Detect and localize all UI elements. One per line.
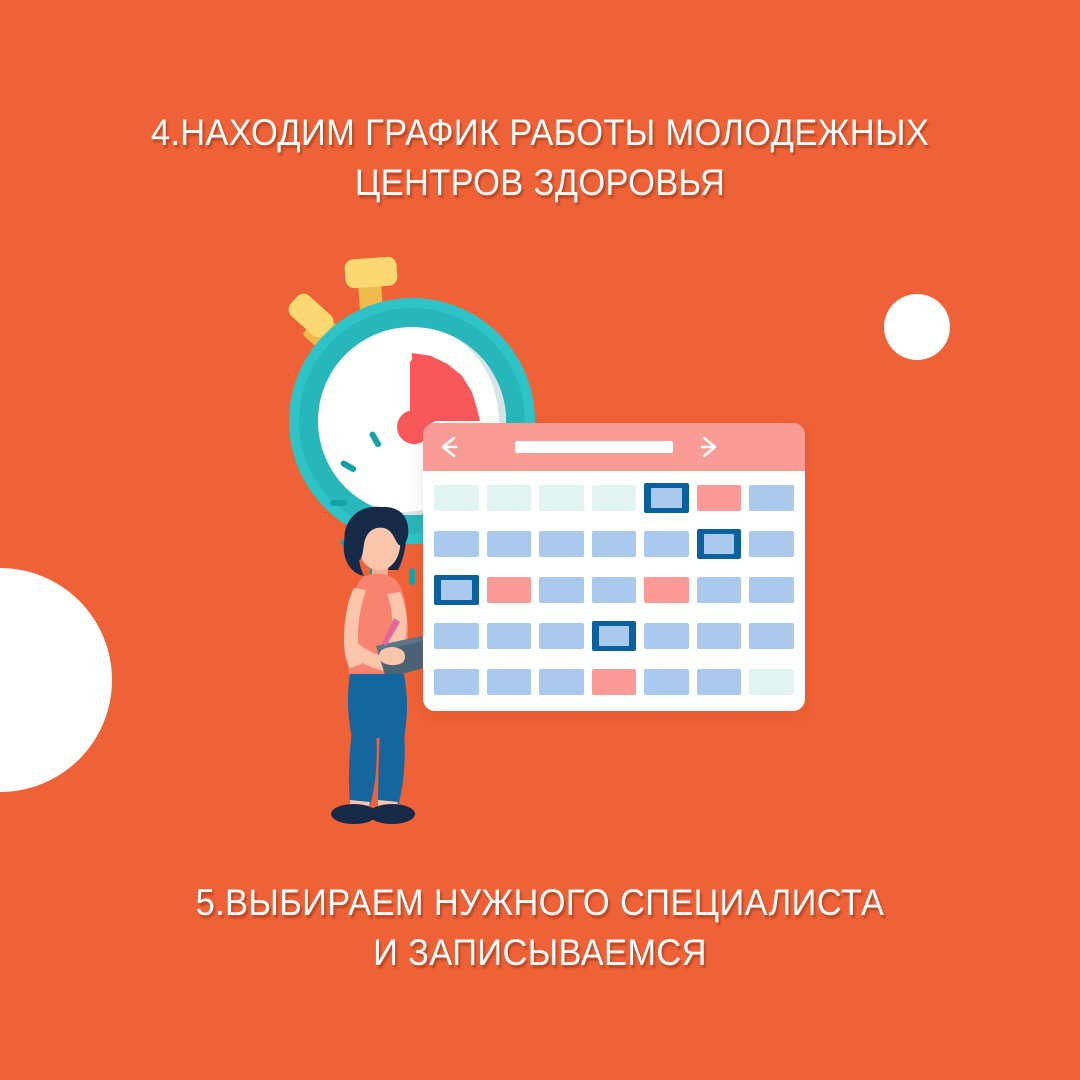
calendar-day-blue[interactable] — [487, 623, 532, 649]
calendar-day-selected-fill — [599, 626, 630, 646]
calendar-day-red[interactable] — [592, 669, 637, 695]
calendar-day-pale[interactable] — [749, 669, 794, 695]
calendar-day-blue[interactable] — [644, 669, 689, 695]
calendar-day-blue[interactable] — [749, 577, 794, 603]
calendar-day-grid — [423, 471, 805, 711]
stopwatch-crown-cap — [344, 256, 398, 289]
calendar-day-red[interactable] — [487, 577, 532, 603]
calendar-day-selected[interactable] — [644, 483, 689, 513]
hand-right — [379, 647, 405, 665]
calendar-day-blue[interactable] — [749, 531, 794, 557]
calendar-day-selected-fill — [651, 488, 682, 508]
calendar-day-blue[interactable] — [539, 531, 584, 557]
calendar-day-blue[interactable] — [539, 669, 584, 695]
calendar-day-selected-fill — [441, 580, 472, 600]
headline-bottom: 5.ВЫБИРАЕМ НУЖНОГО СПЕЦИАЛИСТА И ЗАПИСЫВ… — [38, 878, 1042, 978]
calendar-day-selected[interactable] — [434, 575, 479, 605]
arrow-left-icon[interactable] — [437, 434, 463, 460]
calendar-day-selected[interactable] — [697, 529, 742, 559]
calendar-day-blue[interactable] — [592, 531, 637, 557]
calendar-day-blue[interactable] — [539, 623, 584, 649]
calendar-day-blue[interactable] — [592, 577, 637, 603]
calendar-day-pale[interactable] — [592, 485, 637, 511]
calendar-day-red[interactable] — [644, 577, 689, 603]
calendar-day-blue[interactable] — [697, 623, 742, 649]
calendar-day-blue[interactable] — [434, 669, 479, 695]
calendar-day-selected[interactable] — [592, 621, 637, 651]
calendar-day-pale[interactable] — [539, 485, 584, 511]
calendar-day-blue[interactable] — [697, 577, 742, 603]
calendar-card — [423, 423, 805, 711]
calendar-header-bar — [423, 423, 805, 471]
leg-right — [378, 732, 405, 806]
calendar-title-placeholder — [515, 441, 673, 453]
calendar-day-blue[interactable] — [434, 623, 479, 649]
shoe-right — [369, 804, 415, 824]
calendar-day-pale[interactable] — [487, 485, 532, 511]
calendar-day-pale[interactable] — [434, 485, 479, 511]
woman-with-tablet — [310, 500, 440, 825]
leg-left — [349, 732, 377, 806]
calendar-day-blue[interactable] — [487, 531, 532, 557]
jeans-hip — [348, 674, 407, 738]
calendar-day-blue[interactable] — [539, 577, 584, 603]
stopwatch-tick-10 — [339, 459, 357, 473]
calendar-day-blue[interactable] — [749, 485, 794, 511]
calendar-day-blue[interactable] — [697, 669, 742, 695]
calendar-day-selected-fill — [704, 534, 735, 554]
calendar-day-blue[interactable] — [749, 623, 794, 649]
calendar-day-blue[interactable] — [434, 531, 479, 557]
calendar-day-blue[interactable] — [644, 531, 689, 557]
slide-canvas: 4.НАХОДИМ ГРАФИК РАБОТЫ МОЛОДЕЖНЫХ ЦЕНТР… — [0, 0, 1080, 1080]
calendar-day-blue[interactable] — [487, 669, 532, 695]
calendar-day-red[interactable] — [697, 485, 742, 511]
stopwatch-tick-11 — [368, 430, 382, 448]
calendar-day-blue[interactable] — [644, 623, 689, 649]
arrow-right-icon[interactable] — [695, 434, 721, 460]
